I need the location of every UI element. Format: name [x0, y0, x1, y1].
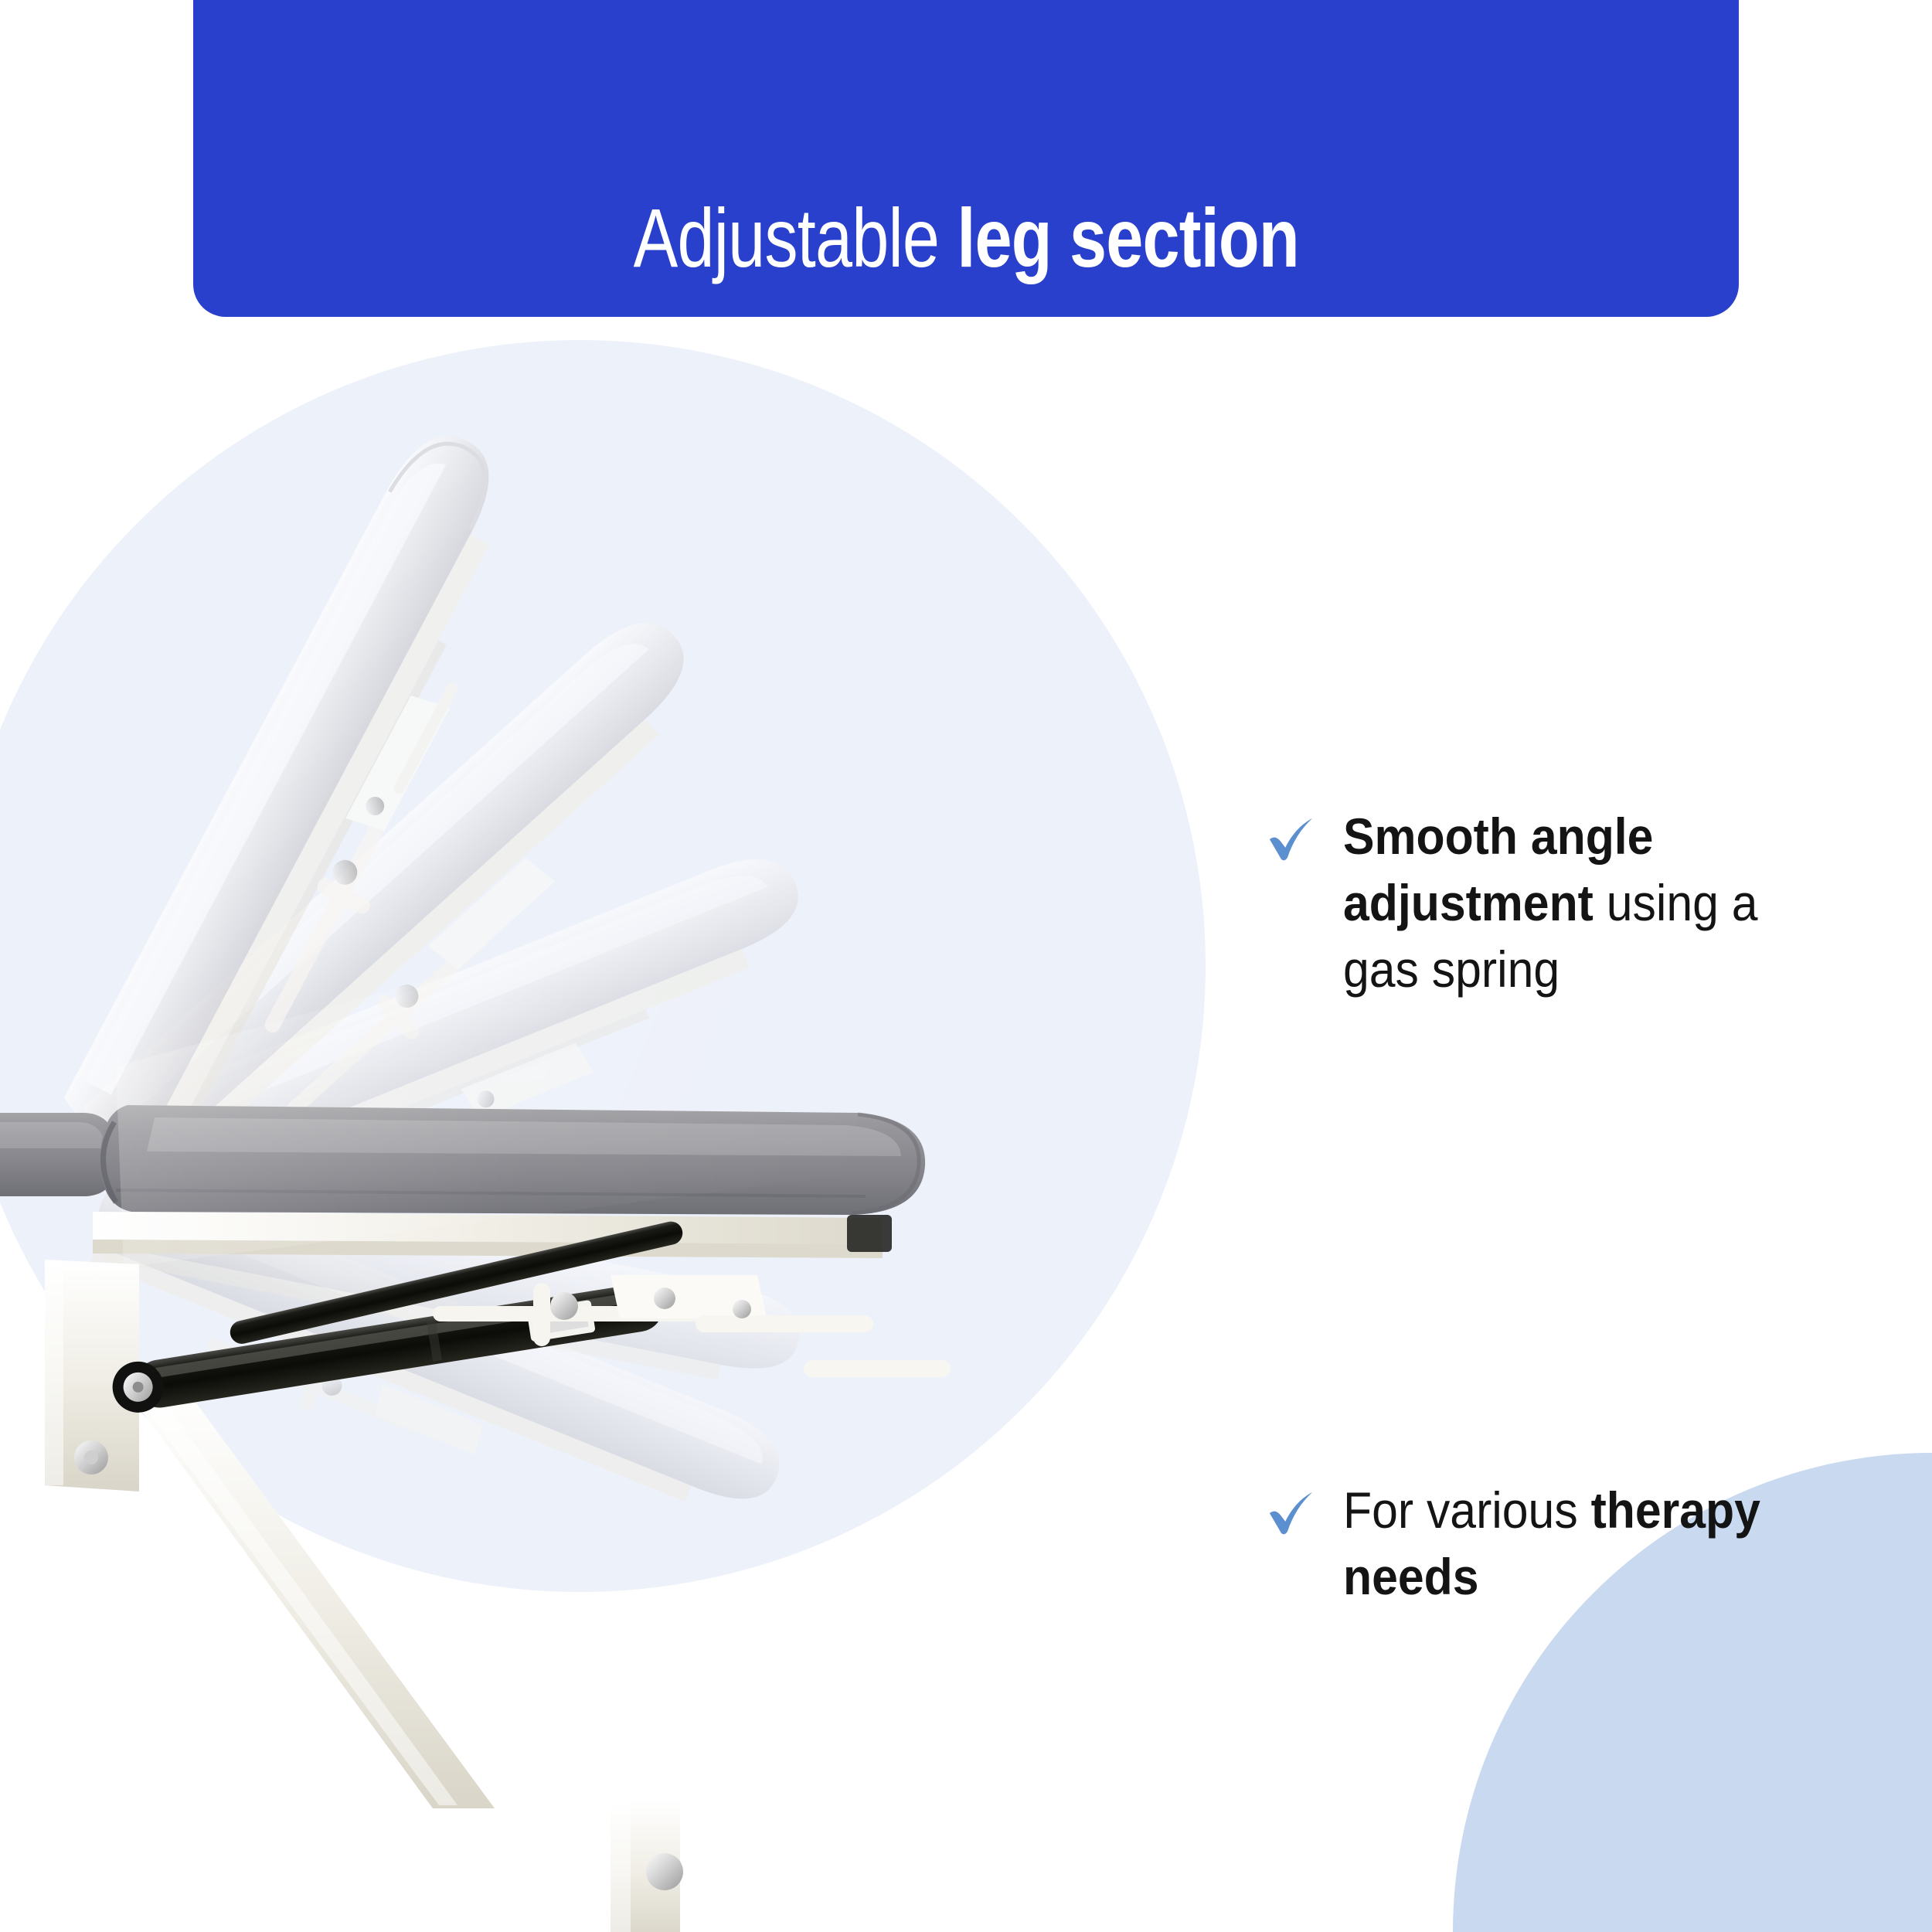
page-title: Adjustable leg section — [633, 196, 1298, 280]
feature-item-smooth-angle: Smooth angle adjustment using a gas spri… — [1267, 804, 1886, 1002]
check-icon — [1267, 816, 1315, 864]
feature-list: Smooth angle adjustment using a gas spri… — [1267, 804, 1886, 1611]
header-banner: Adjustable leg section — [193, 0, 1739, 317]
side-cushion — [0, 1113, 117, 1196]
feature-text: For various therapy needs — [1343, 1478, 1798, 1611]
page-title-bold: leg section — [957, 191, 1299, 284]
feature-item-therapy-needs: For various therapy needs — [1267, 1478, 1886, 1611]
feature-lead: For various — [1343, 1481, 1591, 1539]
floor-post — [611, 1801, 683, 1932]
page-title-regular: Adjustable — [633, 191, 957, 284]
check-icon — [1267, 1490, 1315, 1538]
floor-strut — [138, 1386, 495, 1808]
feature-text: Smooth angle adjustment using a gas spri… — [1343, 804, 1798, 1002]
